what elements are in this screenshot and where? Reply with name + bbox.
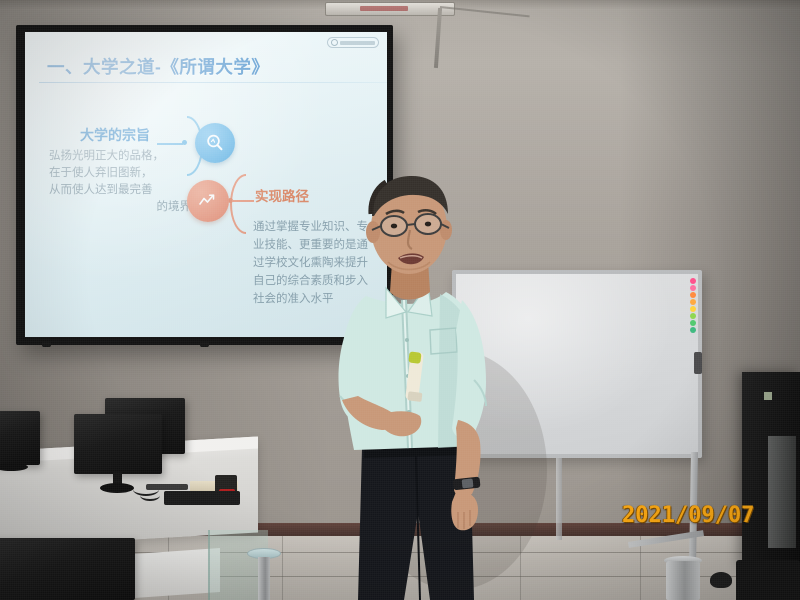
door-stop: [710, 572, 732, 588]
blue-section-body: 弘扬光明正大的品格， 在于使人弃旧图新， 从而使人达到最完善 的境界: [49, 148, 191, 216]
screen-foot: [352, 342, 361, 347]
mount-brand-label: [360, 6, 408, 11]
orange-body-line: 社会的准入水平: [253, 290, 387, 308]
blue-section-heading: 大学的宗旨: [80, 125, 150, 145]
slide-title-divider: [39, 82, 387, 83]
cabinet-panel: [768, 436, 796, 548]
camera-date-stamp: 2021/09/07: [622, 503, 754, 528]
orange-body-line: 业技能、更重要的是通: [253, 236, 387, 254]
blue-body-line: 的境界: [49, 199, 191, 216]
whiteboard-stand-leg: [556, 458, 562, 540]
monitor-base: [100, 483, 134, 493]
slide-watermark-badge: [327, 37, 379, 48]
whiteboard-magnets: [690, 278, 696, 333]
magnifier-icon: [195, 123, 235, 163]
blue-body-line: 在于使人弃旧图新，: [49, 165, 191, 182]
blue-body-line: 从而使人达到最完善: [49, 182, 191, 199]
blue-connector-line: [157, 143, 183, 145]
orange-body-line: 通过掌握专业知识、专: [253, 218, 387, 236]
monitor-center: [74, 414, 162, 474]
blue-connector-dot: [182, 140, 187, 145]
projection-screen-surface: 一、大学之道-《所谓大学》 大学的宗旨 弘扬光明正大的品格， 在于使人: [25, 32, 387, 337]
orange-connector-line: [232, 200, 254, 202]
screen-foot: [200, 342, 209, 347]
stool: [247, 548, 281, 600]
monitor-foreground: [0, 538, 135, 600]
orange-section-body: 通过掌握专业知识、专 业技能、更重要的是通 过学校文化熏陶来提升 自己的综合素质…: [253, 218, 387, 308]
orange-section-heading: 实现路径: [255, 185, 309, 205]
screen-mount-bracket: [325, 2, 455, 16]
screen-foot: [42, 342, 51, 347]
whiteboard-pen-holder: [694, 352, 702, 374]
orange-body-line: 自己的综合素质和步入: [253, 272, 387, 290]
whiteboard: [452, 270, 702, 458]
orange-body-line: 过学校文化熏陶来提升: [253, 254, 387, 272]
cabinet-sticker: [764, 392, 772, 400]
slide-title: 一、大学之道-《所谓大学》: [47, 54, 269, 79]
trash-bin: [666, 561, 700, 600]
monitor-left: [0, 411, 40, 465]
whiteboard-sheen: [456, 274, 698, 454]
watermark-dot-icon: [331, 39, 338, 46]
projection-screen: 一、大学之道-《所谓大学》 大学的宗旨 弘扬光明正大的品格， 在于使人: [16, 25, 393, 345]
equipment-cabinet: [742, 372, 800, 568]
watermark-text-bar: [340, 41, 375, 45]
stool-pole: [258, 557, 270, 600]
trend-chart-icon: [187, 180, 229, 222]
presentation-slide: 一、大学之道-《所谓大学》 大学的宗旨 弘扬光明正大的品格， 在于使人: [25, 32, 387, 337]
blue-body-line: 弘扬光明正大的品格，: [49, 148, 191, 165]
keyboard: [164, 491, 240, 505]
cabinet-base: [736, 560, 800, 600]
cable: [140, 490, 160, 501]
classroom-photo: 一、大学之道-《所谓大学》 大学的宗旨 弘扬光明正大的品格， 在于使人: [0, 0, 800, 600]
